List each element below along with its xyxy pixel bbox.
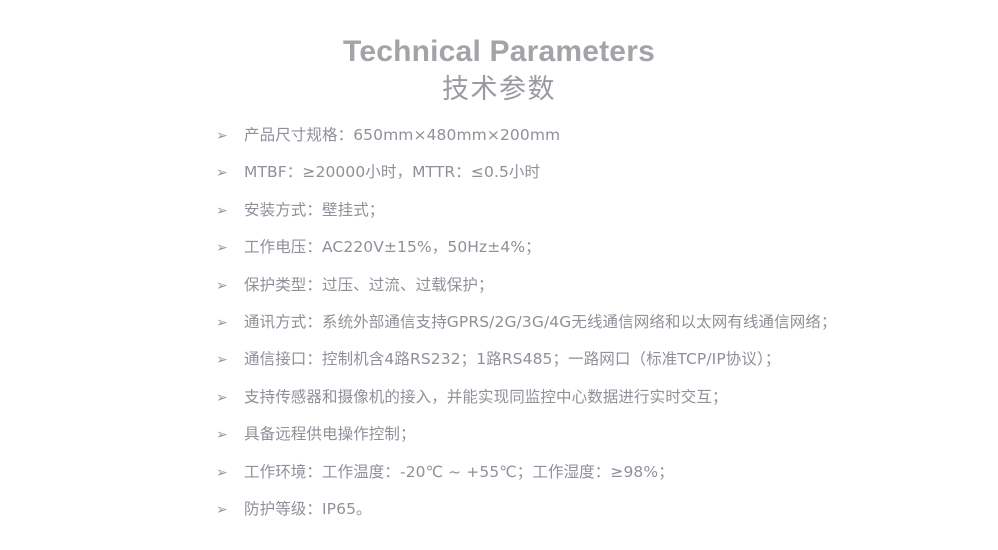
list-item: ➢ 支持传感器和摄像机的接入，并能实现同监控中心数据进行实时交互； bbox=[216, 386, 986, 423]
list-item: ➢ MTBF：≥20000小时，MTTR：≤0.5小时 bbox=[216, 161, 986, 198]
specification-list: ➢ 产品尺寸规格：650mm×480mm×200mm ➢ MTBF：≥20000… bbox=[216, 124, 986, 535]
arrow-bullet-icon: ➢ bbox=[216, 348, 244, 371]
arrow-bullet-icon: ➢ bbox=[216, 274, 244, 297]
arrow-bullet-icon: ➢ bbox=[216, 311, 244, 334]
list-item: ➢ 防护等级：IP65。 bbox=[216, 498, 986, 535]
arrow-bullet-icon: ➢ bbox=[216, 423, 244, 446]
list-item: ➢ 通信接口：控制机含4路RS232；1路RS485；一路网口（标准TCP/IP… bbox=[216, 348, 986, 385]
arrow-bullet-icon: ➢ bbox=[216, 124, 244, 147]
spec-text: 通信接口：控制机含4路RS232；1路RS485；一路网口（标准TCP/IP协议… bbox=[244, 348, 780, 370]
list-item: ➢ 工作环境：工作温度：-20℃ ~ +55℃；工作湿度：≥98%； bbox=[216, 461, 986, 498]
spec-text: 工作电压：AC220V±15%，50Hz±4%； bbox=[244, 236, 541, 258]
page-title-english: Technical Parameters bbox=[0, 34, 998, 70]
page-heading: Technical Parameters 技术参数 bbox=[0, 34, 998, 107]
page-title-chinese: 技术参数 bbox=[0, 73, 998, 107]
arrow-bullet-icon: ➢ bbox=[216, 461, 244, 484]
arrow-bullet-icon: ➢ bbox=[216, 199, 244, 222]
list-item: ➢ 安装方式：壁挂式； bbox=[216, 199, 986, 236]
arrow-bullet-icon: ➢ bbox=[216, 386, 244, 409]
list-item: ➢ 产品尺寸规格：650mm×480mm×200mm bbox=[216, 124, 986, 161]
technical-parameters-page: Technical Parameters 技术参数 ➢ 产品尺寸规格：650mm… bbox=[0, 0, 998, 550]
spec-text: 产品尺寸规格：650mm×480mm×200mm bbox=[244, 124, 560, 146]
arrow-bullet-icon: ➢ bbox=[216, 498, 244, 521]
spec-text: 安装方式：壁挂式； bbox=[244, 199, 384, 221]
arrow-bullet-icon: ➢ bbox=[216, 236, 244, 259]
list-item: ➢ 通讯方式：系统外部通信支持GPRS/2G/3G/4G无线通信网络和以太网有线… bbox=[216, 311, 986, 348]
list-item: ➢ 工作电压：AC220V±15%，50Hz±4%； bbox=[216, 236, 986, 273]
spec-text: 防护等级：IP65。 bbox=[244, 498, 372, 520]
spec-text: 支持传感器和摄像机的接入，并能实现同监控中心数据进行实时交互； bbox=[244, 386, 728, 408]
spec-text: 通讯方式：系统外部通信支持GPRS/2G/3G/4G无线通信网络和以太网有线通信… bbox=[244, 311, 837, 333]
spec-text: 具备远程供电操作控制； bbox=[244, 423, 416, 445]
spec-text: MTBF：≥20000小时，MTTR：≤0.5小时 bbox=[244, 161, 540, 183]
spec-text: 保护类型：过压、过流、过载保护； bbox=[244, 274, 494, 296]
spec-text: 工作环境：工作温度：-20℃ ~ +55℃；工作湿度：≥98%； bbox=[244, 461, 674, 483]
list-item: ➢ 具备远程供电操作控制； bbox=[216, 423, 986, 460]
list-item: ➢ 保护类型：过压、过流、过载保护； bbox=[216, 274, 986, 311]
arrow-bullet-icon: ➢ bbox=[216, 161, 244, 184]
